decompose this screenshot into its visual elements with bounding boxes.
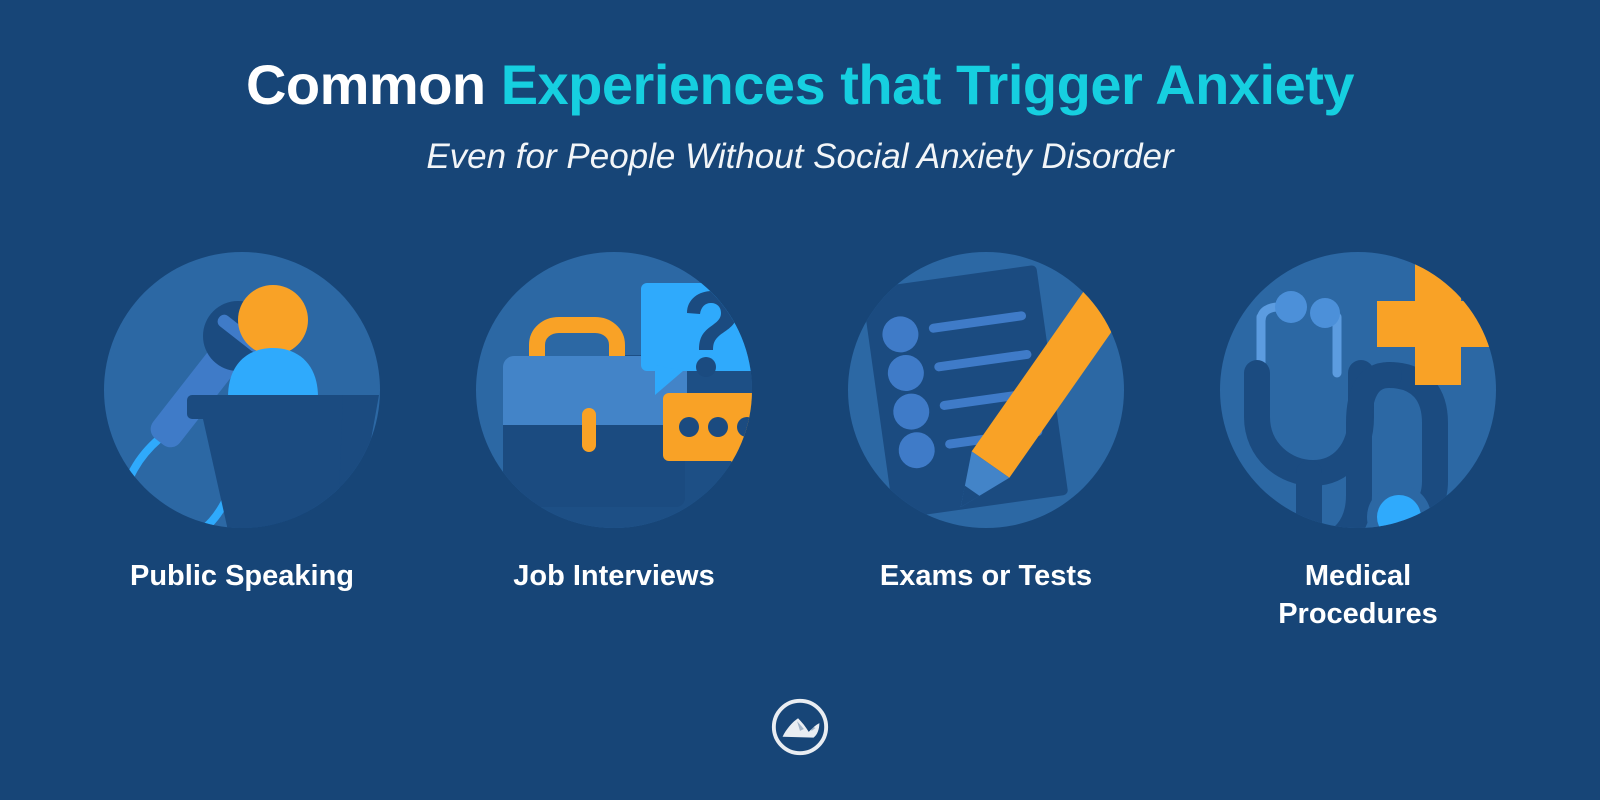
trigger-cards-row: Public Speaking — [0, 245, 1600, 634]
card-label-job-interviews: Job Interviews — [513, 557, 714, 595]
card-job-interviews[interactable]: Job Interviews — [428, 245, 800, 595]
title-accent-part: Experiences that Trigger Anxiety — [501, 53, 1354, 116]
mountain-circle-logo[interactable] — [769, 696, 831, 758]
card-exams-or-tests[interactable]: Exams or Tests — [800, 245, 1172, 595]
icon-wrap-medical-procedures — [1213, 245, 1503, 535]
card-label-medical-procedures: Medical Procedures — [1243, 557, 1473, 634]
title-plain-part: Common — [246, 53, 501, 116]
icon-wrap-exams-or-tests — [841, 245, 1131, 535]
card-label-public-speaking: Public Speaking — [130, 557, 354, 595]
card-public-speaking[interactable]: Public Speaking — [56, 245, 428, 595]
checklist-pencil-icon — [841, 245, 1131, 535]
stethoscope-cross-icon — [1213, 245, 1503, 535]
card-label-exams-or-tests: Exams or Tests — [880, 557, 1092, 595]
icon-wrap-job-interviews — [469, 245, 759, 535]
infographic-canvas: Common Experiences that Trigger Anxiety … — [0, 0, 1600, 800]
podium-microphone-icon — [97, 245, 387, 535]
page-subtitle: Even for People Without Social Anxiety D… — [0, 137, 1600, 177]
page-title: Common Experiences that Trigger Anxiety — [0, 56, 1600, 115]
icon-wrap-public-speaking — [97, 245, 387, 535]
card-medical-procedures[interactable]: Medical Procedures — [1172, 245, 1544, 634]
footer — [0, 696, 1600, 758]
briefcase-speech-bubbles-icon — [469, 245, 759, 535]
header: Common Experiences that Trigger Anxiety … — [0, 0, 1600, 177]
